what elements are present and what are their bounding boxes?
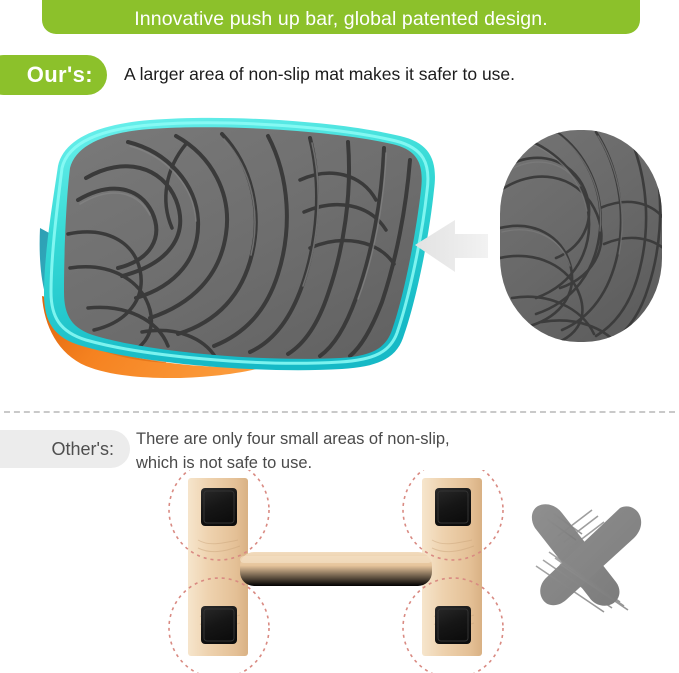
ours-badge-label: Our's: [27, 64, 93, 86]
non-slip-mat-detail [498, 130, 674, 348]
headline-banner: Innovative push up bar, global patented … [42, 0, 640, 34]
ours-badge: Our's: [0, 55, 107, 95]
non-slip-pad-bottom-left [201, 606, 237, 644]
others-description-line1: There are only four small areas of non-s… [136, 430, 450, 448]
headline-text: Innovative push up bar, global patented … [134, 10, 547, 30]
non-slip-pad-bottom-right [435, 606, 471, 644]
others-product-svg [0, 470, 679, 673]
others-badge-label: Other's: [52, 440, 114, 458]
cross-mark-icon [532, 504, 641, 612]
ours-row: Our's: A larger area of non-slip mat mak… [0, 55, 679, 97]
non-slip-pad-top-left [201, 488, 237, 526]
ours-product-illustration [0, 108, 679, 404]
others-description: There are only four small areas of non-s… [136, 428, 450, 476]
ours-product-svg [0, 108, 679, 404]
non-slip-pad-top-right [435, 488, 471, 526]
others-product-illustration [0, 470, 679, 673]
wooden-handle-bar [240, 552, 432, 586]
section-divider [4, 411, 675, 413]
ours-description: A larger area of non-slip mat makes it s… [124, 64, 515, 85]
others-badge: Other's: [0, 430, 130, 468]
